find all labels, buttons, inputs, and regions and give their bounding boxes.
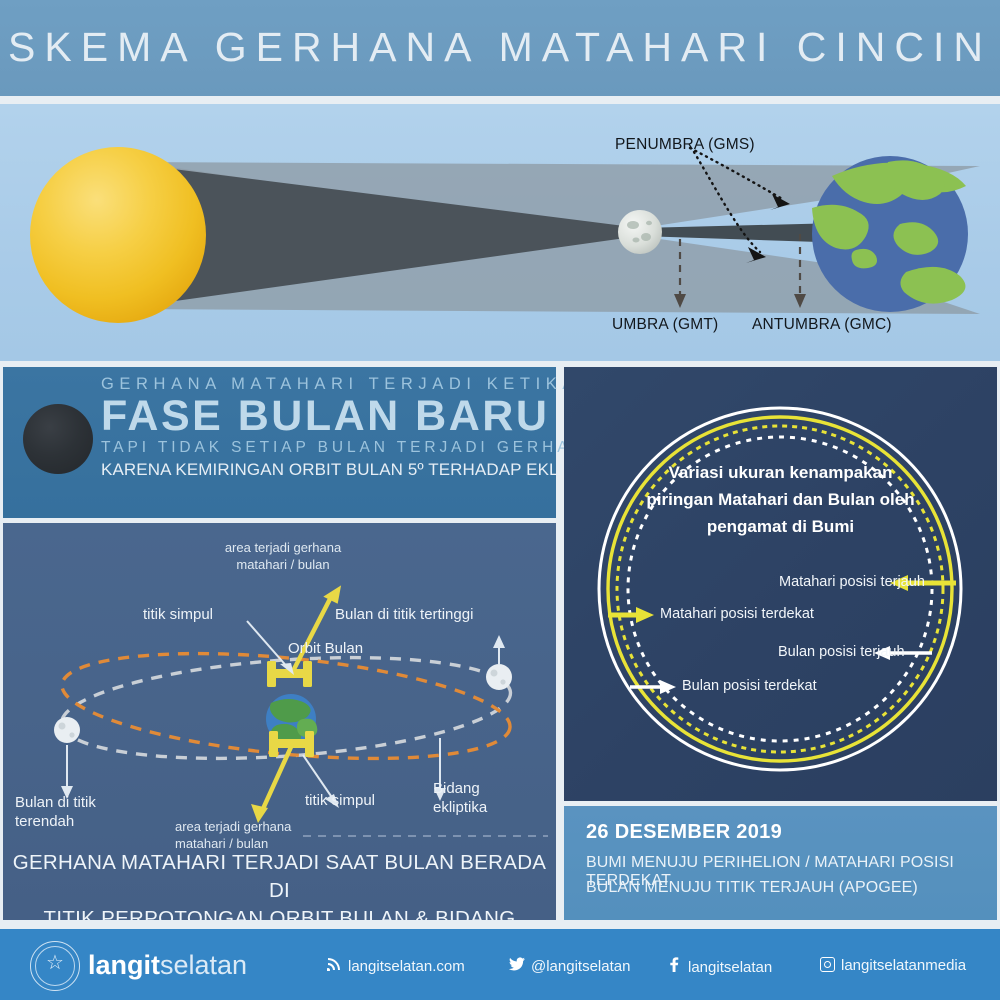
orbit-caption: GERHANA MATAHARI TERJADI SAAT BULAN BERA… (3, 849, 556, 920)
label-ecliptic-plane: Bidang ekliptika (433, 779, 487, 817)
facebook-icon (665, 957, 683, 976)
new-moon-line3: TAPI TIDAK SETIAP BULAN TERJADI GERHANA (101, 439, 548, 457)
logo-glyph: ☆ (31, 953, 79, 973)
label-node-bottom: titik simpul (305, 791, 375, 810)
label-moon-lowest: Bulan di titik terendah (15, 793, 96, 831)
label-moon-lowest-line1: Bulan di titik (15, 793, 96, 812)
earth-globe (812, 156, 968, 312)
apparent-size-panel: Variasi ukuran kenampakan piringan Matah… (564, 367, 997, 801)
moon-highest-point (486, 664, 512, 690)
sun-sphere (30, 147, 206, 323)
label-moon-lowest-line2: terendah (15, 812, 96, 831)
link-twitter-text: @langitselatan (531, 958, 630, 975)
arrow-sun-near (608, 607, 654, 623)
label-penumbra: PENUMBRA (GMS) (615, 136, 755, 154)
moon-highest-arrowhead (493, 635, 505, 648)
event-note-line2: BULAN MENUJU TITIK TERJAUH (APOGEE) (586, 879, 918, 897)
label-sun-farthest: Matahari posisi terjauh (779, 574, 925, 590)
rss-icon (325, 957, 343, 975)
new-moon-text-block: GERHANA MATAHARI TERJADI KETIKA FASE BUL… (101, 375, 548, 480)
label-umbra: UMBRA (GMT) (612, 316, 718, 334)
moon-lowest-point (54, 717, 80, 743)
moon-orbit-panel: area terjadi gerhana matahari / bulan ti… (3, 523, 556, 920)
page-title: SKEMA GERHANA MATAHARI CINCIN (0, 24, 1000, 71)
link-instagram[interactable]: langitselatanmedia (818, 957, 966, 974)
label-sun-nearest: Matahari posisi terdekat (660, 606, 814, 622)
link-website-text: langitselatan.com (348, 958, 465, 975)
new-moon-headline: FASE BULAN BARU (101, 392, 548, 440)
label-node-top: titik simpul (143, 605, 213, 624)
new-moon-icon (23, 404, 93, 474)
brand-name-bold: langit (88, 950, 160, 980)
brand-wordmark[interactable]: langitselatan (88, 950, 247, 980)
moon-sphere (618, 210, 662, 254)
instagram-icon (818, 957, 836, 974)
infographic-root: SKEMA GERHANA MATAHARI CINCIN (0, 0, 1000, 1000)
footer-bar: ☆ langitselatan langitselatan.com @langi… (0, 929, 1000, 1000)
link-facebook[interactable]: langitselatan (665, 957, 772, 976)
rings-title: Variasi ukuran kenampakan piringan Matah… (604, 459, 957, 540)
label-ecliptic-line1: Bidang (433, 779, 487, 798)
langitselatan-logo[interactable]: ☆ (30, 941, 80, 991)
rings-title-line2: piringan Matahari dan Bulan oleh (604, 486, 957, 513)
link-facebook-text: langitselatan (688, 959, 772, 976)
label-eclipse-area-bottom: area terjadi gerhana matahari / bulan (175, 818, 291, 852)
event-date-panel: 26 DESEMBER 2019 BUMI MENUJU PERIHELION … (564, 806, 997, 920)
label-ecliptic-line2: ekliptika (433, 798, 487, 817)
label-orbit-bulan: Orbit Bulan (288, 639, 363, 658)
eclipse-geometry-diagram: PENUMBRA (GMS) UMBRA (GMT) ANTUMBRA (GMC… (0, 104, 1000, 361)
link-instagram-text: langitselatanmedia (841, 957, 966, 974)
new-moon-phase-panel: GERHANA MATAHARI TERJADI KETIKA FASE BUL… (3, 367, 556, 518)
label-eclipse-area-top: area terjadi gerhana matahari / bulan (183, 539, 383, 573)
link-website[interactable]: langitselatan.com (325, 957, 465, 975)
label-moon-highest: Bulan di titik tertinggi (335, 605, 473, 624)
twitter-icon (508, 957, 526, 975)
label-eclipse-area-top-line1: area terjadi gerhana (183, 539, 383, 556)
link-twitter[interactable]: @langitselatan (508, 957, 630, 975)
orbit-caption-line1: GERHANA MATAHARI TERJADI SAAT BULAN BERA… (3, 849, 556, 905)
event-date: 26 DESEMBER 2019 (586, 821, 782, 844)
label-eclipse-area-bottom-line1: area terjadi gerhana (175, 818, 291, 835)
label-eclipse-area-top-line2: matahari / bulan (183, 556, 383, 573)
rings-title-line3: pengamat di Bumi (604, 513, 957, 540)
label-antumbra: ANTUMBRA (GMC) (752, 316, 892, 334)
orbit-caption-line2: TITIK PERPOTONGAN ORBIT BULAN & BIDANG E… (3, 905, 556, 920)
new-moon-line4: KARENA KEMIRINGAN ORBIT BULAN 5º TERHADA… (101, 460, 548, 480)
rings-title-line1: Variasi ukuran kenampakan (604, 459, 957, 486)
label-moon-nearest: Bulan posisi terdekat (682, 678, 817, 694)
label-moon-farthest: Bulan posisi terjauh (778, 644, 905, 660)
header-bar: SKEMA GERHANA MATAHARI CINCIN (0, 0, 1000, 96)
brand-name-light: selatan (160, 950, 247, 980)
eclipse-area-arrowhead-top (323, 581, 345, 604)
